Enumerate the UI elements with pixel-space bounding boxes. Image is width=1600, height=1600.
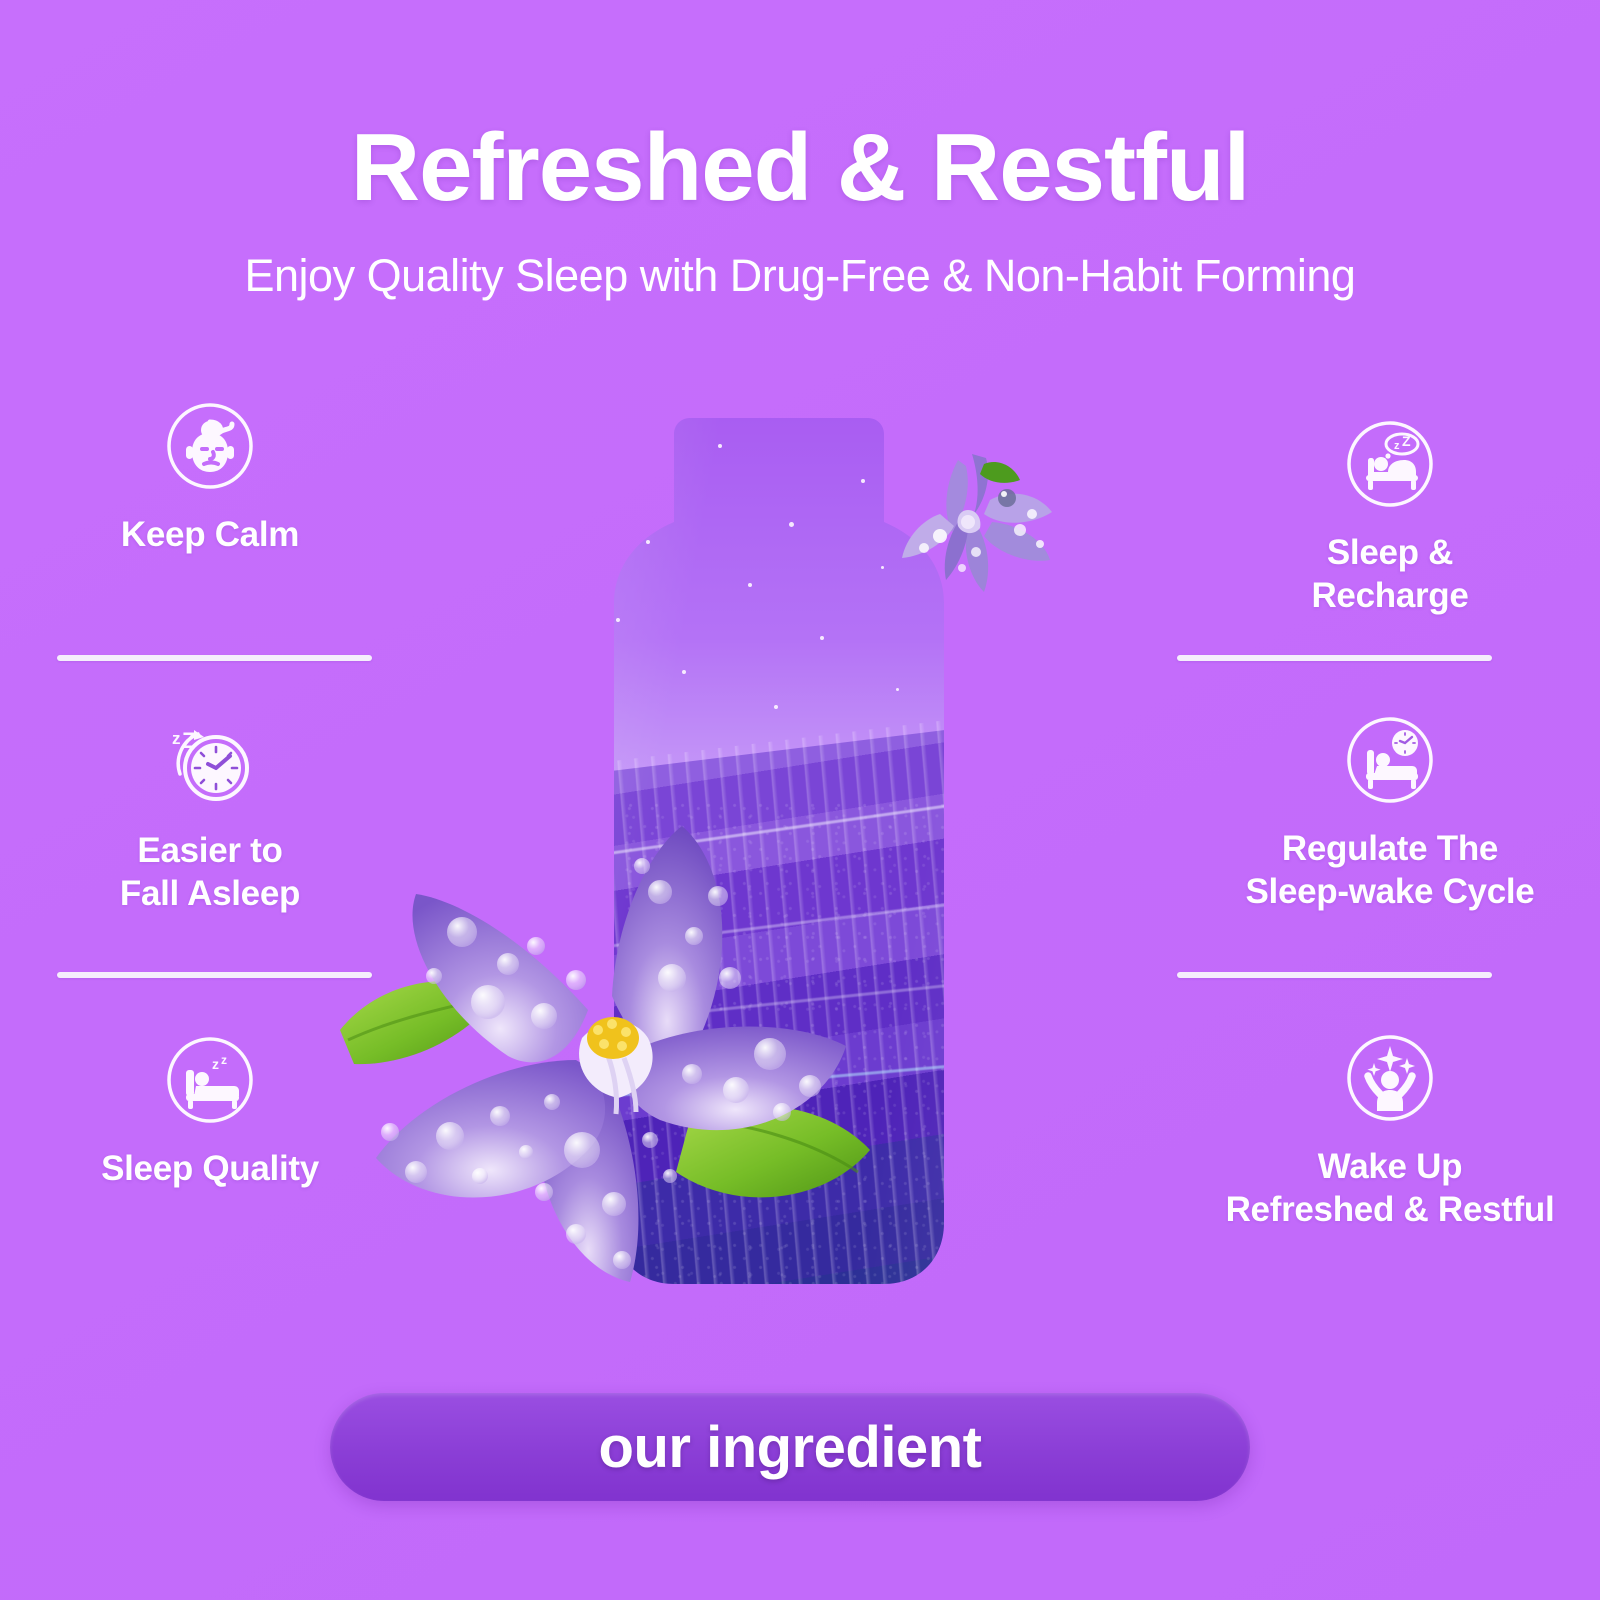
feature-divider-left-2 <box>57 972 372 978</box>
feature-label: Sleep Quality <box>0 1148 420 1191</box>
feature-regulate-sleep-wake-cycle[interactable]: Regulate The Sleep-wake Cycle <box>1180 714 1600 913</box>
feature-easier-to-fall-asleep[interactable]: z Z Easie <box>0 716 420 915</box>
page-title: Refreshed & Restful <box>0 118 1600 219</box>
svg-text:z: z <box>1394 440 1400 452</box>
cta-label: our ingredient <box>599 1414 982 1481</box>
feature-sleep-quality[interactable]: z z Sleep Quality <box>0 1034 420 1191</box>
svg-text:Z: Z <box>1402 433 1411 449</box>
small-top-flower-icon <box>880 452 1070 627</box>
svg-text:z: z <box>212 1056 219 1072</box>
our-ingredient-button[interactable]: our ingredient <box>330 1393 1250 1501</box>
page-subtitle: Enjoy Quality Sleep with Drug-Free & Non… <box>0 250 1600 302</box>
feature-wake-up-refreshed[interactable]: Wake Up Refreshed & Restful <box>1180 1032 1600 1231</box>
calm-face-icon <box>164 400 256 492</box>
svg-text:z: z <box>221 1053 227 1067</box>
feature-divider-right-2 <box>1177 972 1492 978</box>
bed-dream-bubble-icon: z Z <box>1344 418 1436 510</box>
bed-sleeping-zzz-icon: z z <box>164 1034 256 1126</box>
feature-divider-right-1 <box>1177 655 1492 661</box>
person-sparkle-icon <box>1344 1032 1436 1124</box>
feature-divider-left-1 <box>57 655 372 661</box>
feature-label: Easier to Fall Asleep <box>0 830 420 915</box>
main-flower-image <box>330 820 970 1320</box>
feature-sleep-recharge[interactable]: z Z Sleep & Recharge <box>1180 418 1600 617</box>
clock-zzz-icon: z Z <box>164 716 256 808</box>
feature-label: Sleep & Recharge <box>1180 532 1600 617</box>
bed-clock-icon <box>1344 714 1436 806</box>
feature-label: Wake Up Refreshed & Restful <box>1180 1146 1600 1231</box>
infographic-canvas: Refreshed & Restful Enjoy Quality Sleep … <box>0 0 1600 1600</box>
svg-text:z: z <box>172 729 181 748</box>
feature-label: Keep Calm <box>0 514 420 557</box>
feature-keep-calm[interactable]: Keep Calm <box>0 400 420 557</box>
feature-label: Regulate The Sleep-wake Cycle <box>1180 828 1600 913</box>
